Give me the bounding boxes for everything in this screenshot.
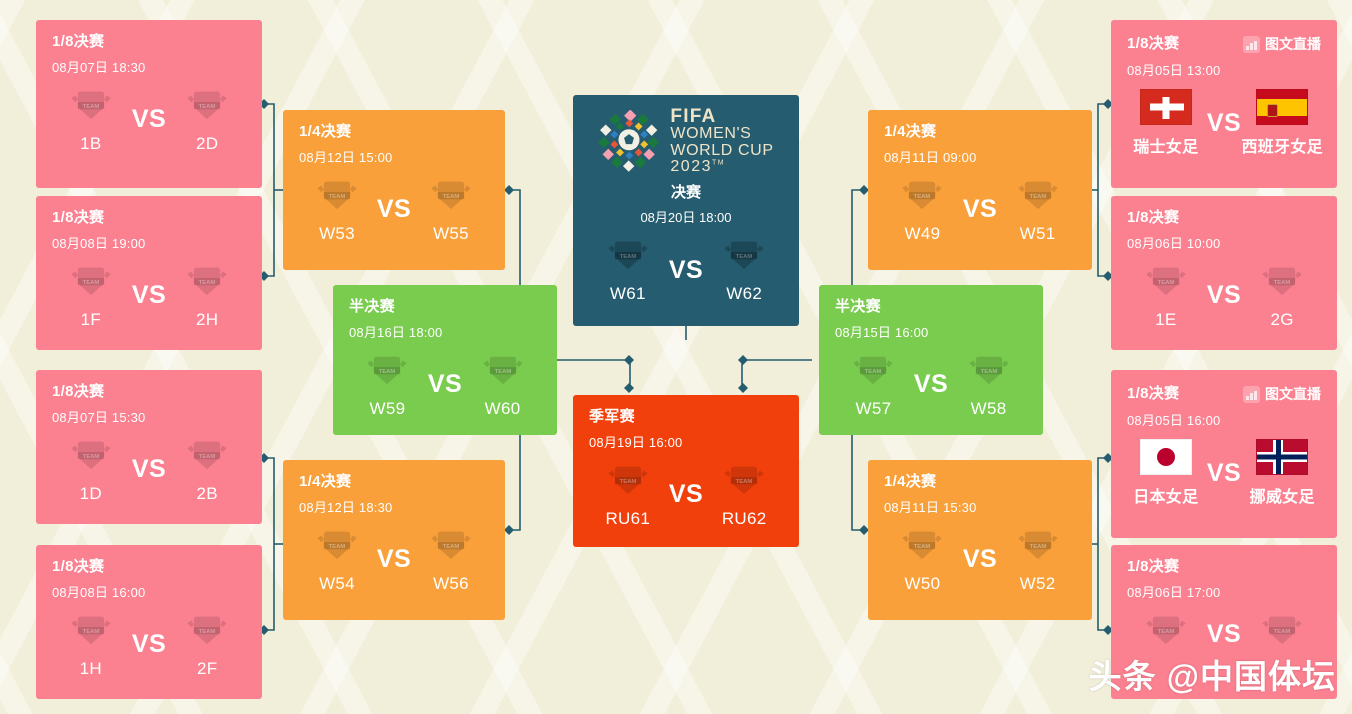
away-team-name: W55	[433, 224, 469, 244]
away-team-name: W56	[433, 574, 469, 594]
home-team[interactable]: TEAM W59	[349, 351, 426, 419]
round-label: 1/8决赛	[52, 559, 246, 576]
team-shield-icon: TEAM	[70, 86, 112, 126]
team-shield-icon: TEAM	[186, 436, 228, 476]
home-team[interactable]: TEAM RU61	[589, 461, 667, 529]
round-label: 1/8决赛	[1127, 210, 1321, 227]
svg-text:TEAM: TEAM	[199, 628, 216, 634]
svg-text:TEAM: TEAM	[199, 453, 216, 459]
home-team-name: W49	[904, 224, 940, 244]
live-broadcast-label: 图文直播	[1265, 34, 1321, 54]
vs-label: VS	[667, 480, 706, 509]
match-card-r16-l2[interactable]: 1/8决赛 08月08日 19:00 TEAM 1F VS TEAM 2H	[36, 196, 262, 350]
flag-norway-icon	[1256, 439, 1308, 475]
svg-text:TEAM: TEAM	[82, 628, 99, 634]
vs-label: VS	[130, 281, 169, 310]
team-shield-icon: TEAM	[1261, 262, 1303, 302]
home-team[interactable]: 日本女足	[1127, 439, 1205, 507]
home-team-name: W61	[610, 284, 646, 304]
match-card-r16-r1[interactable]: 1/8决赛 图文直播 08月05日 13:00 瑞士女足 VS 西班牙女足	[1111, 20, 1337, 188]
away-team[interactable]: TEAM RU62	[705, 461, 783, 529]
teams-row: TEAM 1E VS TEAM 2G	[1127, 262, 1321, 330]
away-team[interactable]: TEAM 2G	[1243, 262, 1321, 330]
match-card-r16-l4[interactable]: 1/8决赛 08月08日 16:00 TEAM 1H VS TEAM 2F	[36, 545, 262, 699]
svg-text:TEAM: TEAM	[329, 193, 346, 199]
svg-text:TEAM: TEAM	[914, 193, 931, 199]
svg-text:TEAM: TEAM	[443, 193, 460, 199]
live-broadcast-badge[interactable]: 图文直播	[1243, 384, 1321, 404]
match-card-r16-r2[interactable]: 1/8决赛 08月06日 10:00 TEAM 1E VS TEAM 2G	[1111, 196, 1337, 350]
fifa-line2: WOMEN'S	[670, 126, 773, 142]
match-time: 08月11日 15:30	[884, 497, 1076, 516]
round-label: 1/4决赛	[884, 474, 1076, 491]
home-team[interactable]: TEAM W53	[299, 176, 375, 244]
match-card-qf-l2[interactable]: 1/4决赛 08月12日 18:30 TEAM W54 VS TEAM W56	[283, 460, 505, 620]
vs-label: VS	[375, 545, 413, 574]
match-card-qf-r2[interactable]: 1/4决赛 08月11日 15:30 TEAM W50 VS TEAM W52	[868, 460, 1092, 620]
team-shield-icon: TEAM	[316, 526, 358, 566]
away-team[interactable]: TEAM W52	[999, 526, 1076, 594]
round-label: 半决赛	[349, 299, 541, 316]
match-time: 08月12日 18:30	[299, 497, 489, 516]
team-shield-icon: TEAM	[186, 611, 228, 651]
home-team-name: 1B	[80, 134, 101, 154]
team-shield-icon: TEAM	[482, 351, 524, 391]
fifa-line3: WORLD CUP	[670, 143, 773, 159]
svg-text:TEAM: TEAM	[1274, 279, 1291, 285]
match-time: 08月11日 09:00	[884, 147, 1076, 166]
match-time: 08月16日 18:00	[349, 322, 541, 341]
home-team-name: W57	[855, 399, 891, 419]
vs-label: VS	[130, 455, 169, 484]
team-shield-icon: TEAM	[70, 611, 112, 651]
teams-row: 日本女足 VS 挪威女足	[1127, 439, 1321, 507]
fifa-emblem-icon	[598, 110, 660, 172]
home-team[interactable]: TEAM W57	[835, 351, 912, 419]
team-shield-icon: TEAM	[1017, 526, 1059, 566]
match-card-r16-r3[interactable]: 1/8决赛 图文直播 08月05日 16:00 日本女足 VS 挪威女足	[1111, 370, 1337, 538]
svg-text:TEAM: TEAM	[82, 453, 99, 459]
svg-text:TEAM: TEAM	[1029, 193, 1046, 199]
svg-text:TEAM: TEAM	[329, 543, 346, 549]
home-team-name: 日本女足	[1133, 483, 1198, 507]
match-card-r16-l3[interactable]: 1/8决赛 08月07日 15:30 TEAM 1D VS TEAM 2B	[36, 370, 262, 524]
team-shield-icon: TEAM	[1261, 611, 1303, 651]
team-shield-icon: TEAM	[186, 86, 228, 126]
match-time: 08月20日 18:00	[589, 207, 783, 226]
round-label: 决赛	[589, 181, 783, 202]
vs-label: VS	[961, 545, 999, 574]
teams-row: TEAM W54 VS TEAM W56	[299, 526, 489, 594]
home-team[interactable]: TEAM W50	[884, 526, 961, 594]
teams-row: TEAM 1H VS TEAM 2F	[52, 611, 246, 679]
round-label: 1/8决赛	[1127, 559, 1321, 576]
match-time: 08月08日 19:00	[52, 233, 246, 252]
match-time: 08月05日 13:00	[1127, 60, 1321, 79]
away-team[interactable]: TEAM W58	[950, 351, 1027, 419]
svg-text:TEAM: TEAM	[82, 103, 99, 109]
round-label: 季军赛	[589, 409, 783, 426]
vs-label: VS	[1205, 459, 1244, 488]
live-broadcast-badge[interactable]: 图文直播	[1243, 34, 1321, 54]
round-label: 半决赛	[835, 299, 1027, 316]
team-shield-icon: TEAM	[1145, 262, 1187, 302]
home-team-name: W53	[319, 224, 355, 244]
match-time: 08月15日 16:00	[835, 322, 1027, 341]
home-team[interactable]: TEAM 1D	[52, 436, 130, 504]
svg-text:TEAM: TEAM	[619, 478, 636, 484]
flag-spain-icon	[1256, 89, 1308, 125]
away-team-name: 挪威女足	[1250, 483, 1315, 507]
teams-row: TEAM 1F VS TEAM 2H	[52, 262, 246, 330]
match-time: 08月12日 15:00	[299, 147, 489, 166]
team-shield-icon: TEAM	[430, 176, 472, 216]
fifa-wordmark: FIFA WOMEN'S WORLD CUP 2023TM	[670, 107, 773, 175]
team-shield-icon: TEAM	[901, 176, 943, 216]
vs-label: VS	[961, 195, 999, 224]
team-shield-icon: TEAM	[607, 236, 649, 276]
vs-label: VS	[1205, 620, 1244, 649]
vs-label: VS	[667, 256, 706, 285]
fifa-line1: FIFA	[670, 107, 773, 126]
away-team-name: 西班牙女足	[1241, 133, 1323, 157]
round-label: 1/4决赛	[299, 124, 489, 141]
teams-row: TEAM W50 VS TEAM W52	[884, 526, 1076, 594]
away-team-name: 2H	[196, 310, 218, 330]
teams-row: TEAM W59 VS TEAM W60	[349, 351, 541, 419]
svg-text:TEAM: TEAM	[199, 103, 216, 109]
teams-row: TEAM W61 VS TEAM W62	[589, 236, 783, 304]
away-team[interactable]: TEAM 2F	[168, 611, 246, 679]
svg-text:TEAM: TEAM	[980, 368, 997, 374]
home-team[interactable]: TEAM 1H	[52, 611, 130, 679]
match-time: 08月06日 17:00	[1127, 582, 1321, 601]
away-team[interactable]: 西班牙女足	[1243, 89, 1321, 157]
match-time: 08月08日 16:00	[52, 582, 246, 601]
away-team-name: W62	[726, 284, 762, 304]
match-time: 08月06日 10:00	[1127, 233, 1321, 252]
away-team-name: W58	[971, 399, 1007, 419]
round-label: 1/8决赛	[52, 384, 246, 401]
vs-label: VS	[426, 370, 464, 399]
home-team[interactable]: TEAM W54	[299, 526, 375, 594]
home-team-name: W59	[369, 399, 405, 419]
flag-japan-icon	[1140, 439, 1192, 475]
live-broadcast-label: 图文直播	[1265, 384, 1321, 404]
svg-text:TEAM: TEAM	[1157, 628, 1174, 634]
home-team-name: 1D	[80, 484, 102, 504]
match-time: 08月19日 16:00	[589, 432, 783, 451]
round-label: 1/4决赛	[299, 474, 489, 491]
home-team[interactable]: TEAM 1F	[52, 262, 130, 330]
fifa-womens-world-cup-logo: FIFA WOMEN'S WORLD CUP 2023TM	[589, 107, 783, 175]
svg-text:TEAM: TEAM	[619, 254, 636, 260]
site-watermark: 头条 @中国体坛	[1089, 650, 1336, 698]
svg-text:TEAM: TEAM	[443, 543, 460, 549]
home-team-name: 1F	[81, 310, 101, 330]
svg-text:TEAM: TEAM	[494, 368, 511, 374]
match-card-final[interactable]: FIFA WOMEN'S WORLD CUP 2023TM 决赛 08月20日 …	[573, 95, 799, 326]
team-shield-icon: TEAM	[316, 176, 358, 216]
team-shield-icon: TEAM	[366, 351, 408, 391]
svg-text:TEAM: TEAM	[736, 478, 753, 484]
svg-text:TEAM: TEAM	[1029, 543, 1046, 549]
svg-text:TEAM: TEAM	[199, 279, 216, 285]
fifa-line4: 2023TM	[670, 159, 773, 175]
away-team[interactable]: TEAM W55	[413, 176, 489, 244]
round-label: 1/8决赛	[52, 210, 246, 227]
away-team[interactable]: TEAM W56	[413, 526, 489, 594]
match-card-third-place[interactable]: 季军赛 08月19日 16:00 TEAM RU61 VS TEAM RU62	[573, 395, 799, 547]
svg-text:TEAM: TEAM	[82, 279, 99, 285]
svg-text:TEAM: TEAM	[1157, 279, 1174, 285]
bar-chart-icon	[1243, 386, 1260, 403]
team-shield-icon: TEAM	[852, 351, 894, 391]
card-header: 1/8决赛	[52, 34, 246, 51]
team-shield-icon: TEAM	[186, 262, 228, 302]
match-card-qf-r1[interactable]: 1/4决赛 08月11日 09:00 TEAM W49 VS TEAM W51	[868, 110, 1092, 270]
team-shield-icon: TEAM	[1145, 611, 1187, 651]
round-label: 1/8决赛	[52, 34, 104, 51]
home-team-name: 1E	[1155, 310, 1176, 330]
away-team-name: 2F	[197, 659, 217, 679]
team-shield-icon: TEAM	[430, 526, 472, 566]
svg-text:TEAM: TEAM	[865, 368, 882, 374]
away-team[interactable]: TEAM 2B	[168, 436, 246, 504]
home-team[interactable]: 瑞士女足	[1127, 89, 1205, 157]
away-team-name: 2B	[196, 484, 217, 504]
match-time: 08月07日 15:30	[52, 407, 246, 426]
bar-chart-icon	[1243, 36, 1260, 53]
team-shield-icon: TEAM	[901, 526, 943, 566]
flag-switzerland-icon	[1140, 89, 1192, 125]
team-shield-icon: TEAM	[968, 351, 1010, 391]
vs-label: VS	[912, 370, 950, 399]
away-team-name: 2D	[196, 134, 218, 154]
svg-text:TEAM: TEAM	[379, 368, 396, 374]
home-team[interactable]: TEAM W49	[884, 176, 961, 244]
teams-row: TEAM RU61 VS TEAM RU62	[589, 461, 783, 529]
vs-label: VS	[130, 105, 169, 134]
round-label: 1/4决赛	[884, 124, 1076, 141]
vs-label: VS	[1205, 109, 1244, 138]
away-team-name: W60	[485, 399, 521, 419]
away-team-name: W52	[1020, 574, 1056, 594]
away-team[interactable]: TEAM W60	[464, 351, 541, 419]
match-card-sf-right[interactable]: 半决赛 08月15日 16:00 TEAM W57 VS TEAM W58	[819, 285, 1043, 435]
away-team-name: W51	[1020, 224, 1056, 244]
away-team[interactable]: TEAM 2H	[168, 262, 246, 330]
teams-row: TEAM W49 VS TEAM W51	[884, 176, 1076, 244]
trademark-symbol: TM	[712, 160, 725, 167]
home-team-name: 1H	[80, 659, 102, 679]
away-team[interactable]: TEAM W51	[999, 176, 1076, 244]
teams-row: TEAM 1B VS TEAM 2D	[52, 86, 246, 154]
match-card-qf-l1[interactable]: 1/4决赛 08月12日 15:00 TEAM W53 VS TEAM W55	[283, 110, 505, 270]
away-team-name: RU62	[722, 509, 767, 529]
away-team[interactable]: TEAM 2D	[168, 86, 246, 154]
team-shield-icon: TEAM	[1017, 176, 1059, 216]
round-label: 1/8决赛	[1127, 36, 1179, 53]
home-team[interactable]: TEAM 1B	[52, 86, 130, 154]
teams-row: TEAM 1D VS TEAM 2B	[52, 436, 246, 504]
away-team[interactable]: 挪威女足	[1243, 439, 1321, 507]
home-team[interactable]: TEAM W61	[589, 236, 667, 304]
team-shield-icon: TEAM	[70, 262, 112, 302]
away-team[interactable]: TEAM W62	[705, 236, 783, 304]
teams-row: TEAM W53 VS TEAM W55	[299, 176, 489, 244]
svg-text:TEAM: TEAM	[1274, 628, 1291, 634]
home-team[interactable]: TEAM 1E	[1127, 262, 1205, 330]
vs-label: VS	[1205, 281, 1244, 310]
round-label: 1/8决赛	[1127, 386, 1179, 403]
team-shield-icon: TEAM	[723, 236, 765, 276]
card-header: 1/8决赛 图文直播	[1127, 384, 1321, 404]
match-card-r16-l1[interactable]: 1/8决赛 08月07日 18:30 TEAM 1B VS	[36, 20, 262, 188]
vs-label: VS	[375, 195, 413, 224]
svg-text:TEAM: TEAM	[914, 543, 931, 549]
home-team-name: W54	[319, 574, 355, 594]
vs-label: VS	[130, 630, 169, 659]
home-team-name: 瑞士女足	[1133, 133, 1198, 157]
team-shield-icon: TEAM	[70, 436, 112, 476]
teams-row: TEAM W57 VS TEAM W58	[835, 351, 1027, 419]
match-time: 08月05日 16:00	[1127, 410, 1321, 429]
away-team-name: 2G	[1271, 310, 1294, 330]
card-header: 1/8决赛 图文直播	[1127, 34, 1321, 54]
svg-text:TEAM: TEAM	[736, 254, 753, 260]
match-time: 08月07日 18:30	[52, 57, 246, 76]
home-team-name: RU61	[605, 509, 650, 529]
teams-row: 瑞士女足 VS 西班牙女足	[1127, 89, 1321, 157]
match-card-sf-left[interactable]: 半决赛 08月16日 18:00 TEAM W59 VS TEAM W60	[333, 285, 557, 435]
home-team-name: W50	[904, 574, 940, 594]
team-shield-icon: TEAM	[607, 461, 649, 501]
team-shield-icon: TEAM	[723, 461, 765, 501]
